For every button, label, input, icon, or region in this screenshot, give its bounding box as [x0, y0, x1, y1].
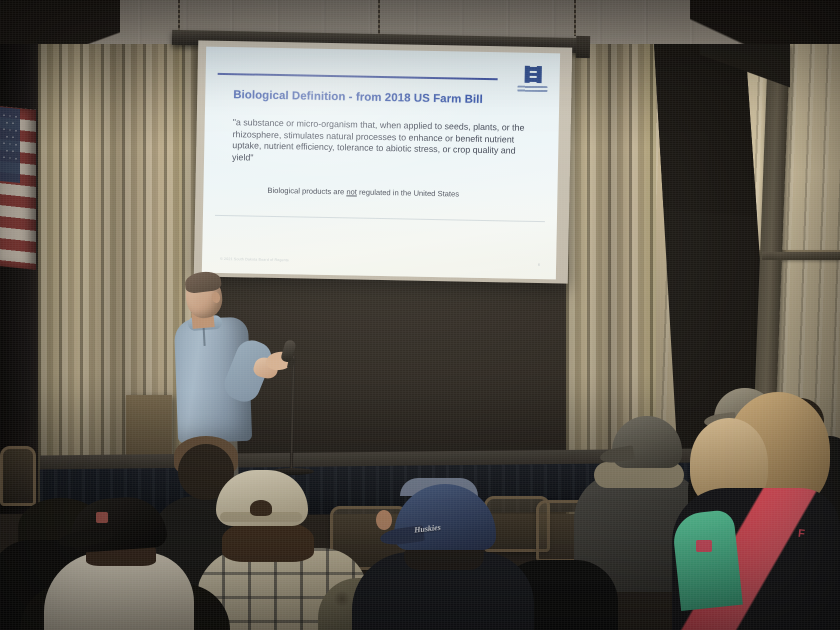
curtain-left — [38, 44, 198, 514]
flag-stars — [1, 111, 19, 179]
slide-note: Biological products are not regulated in… — [267, 186, 537, 200]
folding-chair — [0, 446, 36, 506]
slide-header-rule — [218, 73, 498, 80]
steel-diagonal-brace — [700, 44, 790, 94]
screen-roller-end-cap — [576, 36, 590, 58]
slide-page-number: 6 — [538, 262, 540, 267]
logo-mark — [524, 65, 541, 84]
audience-cap-logo — [96, 512, 108, 523]
screen-chain-middle — [378, 0, 380, 38]
slide-footer-copyright: © 2021 South Dakota Board of Regents — [220, 257, 289, 262]
audience-hair — [222, 520, 314, 562]
audience-jacket-patch — [696, 540, 712, 552]
screen-chain-right — [574, 0, 576, 36]
slide-body-text: "a substance or micro-organism that, whe… — [232, 117, 529, 169]
presentation-slide: Biological Definition - from 2018 US Far… — [202, 47, 560, 280]
photo-scene: Biological Definition - from 2018 US Far… — [0, 0, 840, 630]
audience-ear — [376, 510, 392, 530]
jacket-logo-text: F — [797, 528, 804, 541]
slide-divider — [215, 215, 545, 222]
steel-horizontal-brace — [762, 252, 840, 260]
audience-cap-opening — [250, 500, 272, 516]
logo-wordmark — [517, 86, 547, 93]
audience-jacket-mint-panel — [671, 509, 743, 611]
slide-note-suffix: regulated in the United States — [357, 188, 459, 199]
slide-note-emphasis: not — [346, 187, 357, 196]
slide-title: Biological Definition - from 2018 US Far… — [233, 89, 523, 107]
projection-screen-surface: Biological Definition - from 2018 US Far… — [202, 47, 560, 280]
slide-note-prefix: Biological products are — [267, 186, 346, 197]
